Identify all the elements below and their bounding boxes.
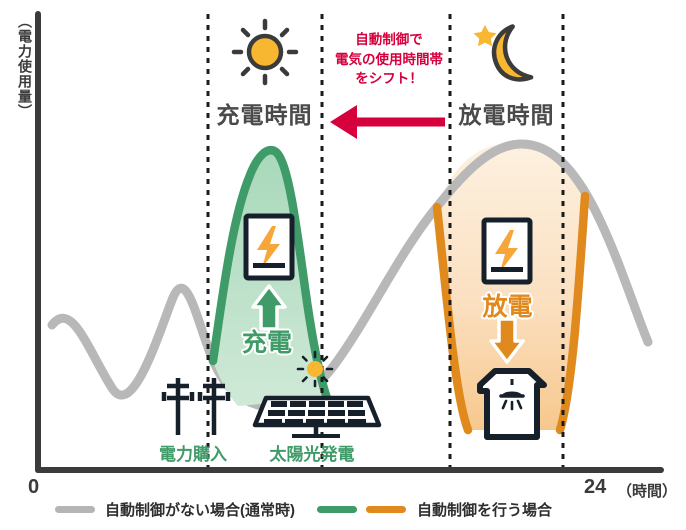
x-axis-start-label: 0 <box>28 476 39 499</box>
utility-pole-icon <box>164 378 228 435</box>
moon-star-icon <box>475 26 532 87</box>
battery-icon-charge <box>246 216 292 278</box>
diagram-canvas: （電力使用量） 充電時間 放電時間 自動制御で 電気の使用時間帯 をシフト！ 充… <box>0 0 686 530</box>
shift-annotation-line1: 自動制御で <box>330 30 448 50</box>
arrow-left-icon <box>330 105 445 139</box>
legend-label-no-control: 自動制御がない場合(通常時) <box>105 499 295 520</box>
power-purchase-label: 電力購入 <box>148 440 238 465</box>
shift-annotation-line2: 電気の使用時間帯 <box>330 50 448 70</box>
chart-legend: 自動制御がない場合(通常時) 自動制御を行う場合 <box>55 498 635 520</box>
discharge-zone-title: 放電時間 <box>450 96 563 130</box>
y-axis-label: （電力使用量） <box>2 14 32 119</box>
charge-zone-title: 充電時間 <box>207 96 322 130</box>
legend-swatch-control-orange <box>366 506 406 513</box>
battery-icon-discharge <box>484 220 530 282</box>
discharge-label: 放電 <box>455 287 560 323</box>
solar-generation-label: 太陽光発電 <box>258 440 366 465</box>
house-lamp-icon <box>480 371 544 437</box>
x-axis-end-label: 24 <box>584 476 606 499</box>
solar-panel-icon <box>255 398 379 436</box>
shift-annotation: 自動制御で 電気の使用時間帯 をシフト！ <box>330 30 448 89</box>
charge-label: 充電 <box>212 323 322 359</box>
legend-swatch-control-green <box>317 506 357 513</box>
legend-swatch-no-control <box>55 506 95 513</box>
legend-label-control: 自動制御を行う場合 <box>417 499 552 520</box>
shift-annotation-line3: をシフト！ <box>330 69 448 89</box>
sun-icon <box>234 21 296 83</box>
